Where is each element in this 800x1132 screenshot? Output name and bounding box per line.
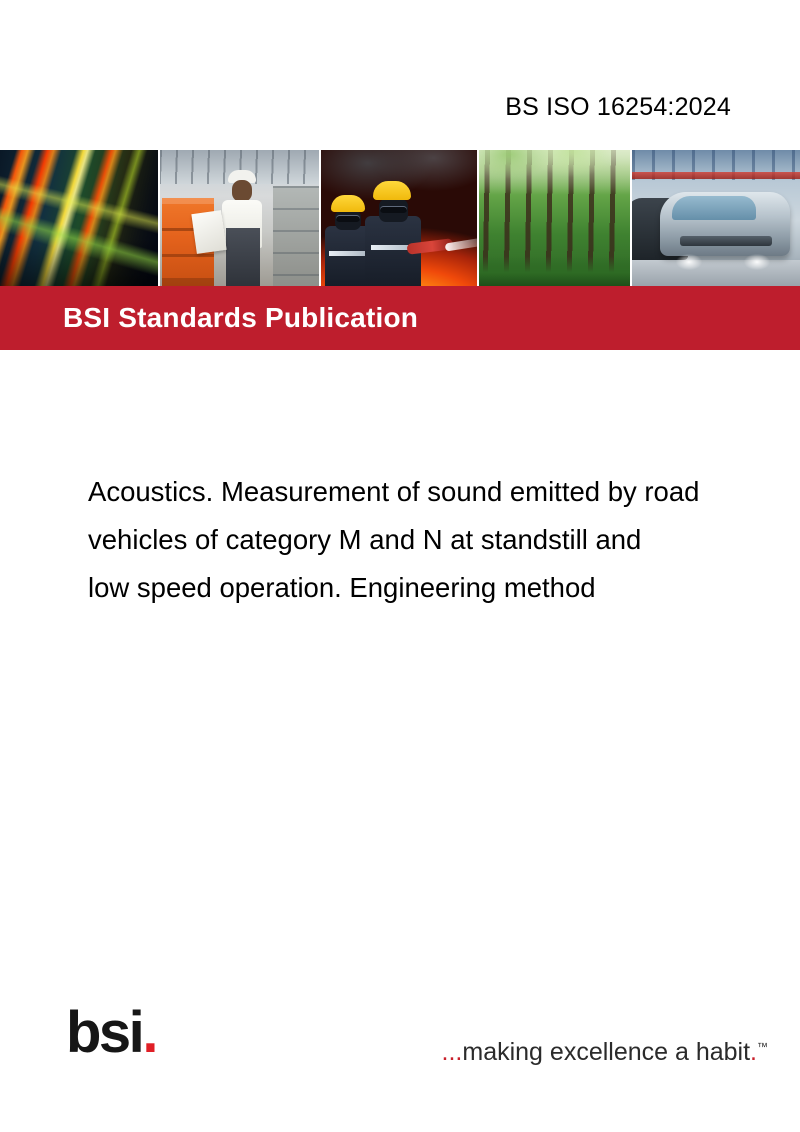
firefighters-photo [321,150,477,286]
worker-head [232,180,252,202]
car-grille [680,236,772,246]
traffic-photo-streaks [0,150,158,286]
title-line-3: low speed operation. Engineering method [88,564,800,612]
worker-apron [226,228,260,286]
publication-label: BSI Standards Publication [63,302,418,334]
page-title: Acoustics. Measurement of sound emitted … [88,468,800,612]
title-line-1: Acoustics. Measurement of sound emitted … [88,468,800,516]
factory-overhead-rail [632,172,800,179]
traffic-light-trails-photo [0,150,158,286]
firefighter-rear-reflective-stripe [329,251,367,256]
bsi-logo: bsi. [66,1004,156,1062]
standard-number: BS ISO 16254:2024 [0,93,731,122]
forest-photo [479,150,631,286]
firefighter-front-visor [380,206,407,213]
cover-banner: BSI Standards Publication [0,150,800,350]
firefighter-rear-visor [336,215,360,222]
firefighter-front-helmet [373,181,411,200]
factory-floor [632,260,800,286]
warehouse-worker-figure [216,170,272,286]
photo-strip [0,150,800,286]
trademark-icon: ™ [757,1042,768,1054]
warehouse-shelving [273,186,319,286]
warehouse-package [191,210,226,254]
bsi-logo-text: bsi [66,1000,142,1065]
car-headlight-left [676,254,702,270]
car-assembly-line-photo [632,150,800,286]
forest-floor [479,256,631,286]
tagline-ellipsis: ... [442,1038,463,1066]
car-windscreen [672,196,756,220]
publication-red-band: BSI Standards Publication [0,286,800,350]
tagline-text: making excellence a habit [462,1038,750,1066]
title-line-2: vehicles of category M and N at standsti… [88,516,800,564]
tagline-period: . [750,1038,757,1066]
bsi-tagline: ...making excellence a habit.™ [442,1040,768,1065]
warehouse-worker-photo [160,150,320,286]
firefighter-rear-helmet [331,195,365,212]
car-headlight-right [744,254,770,270]
bsi-logo-dot: . [142,1000,156,1065]
forest-canopy [479,150,631,194]
